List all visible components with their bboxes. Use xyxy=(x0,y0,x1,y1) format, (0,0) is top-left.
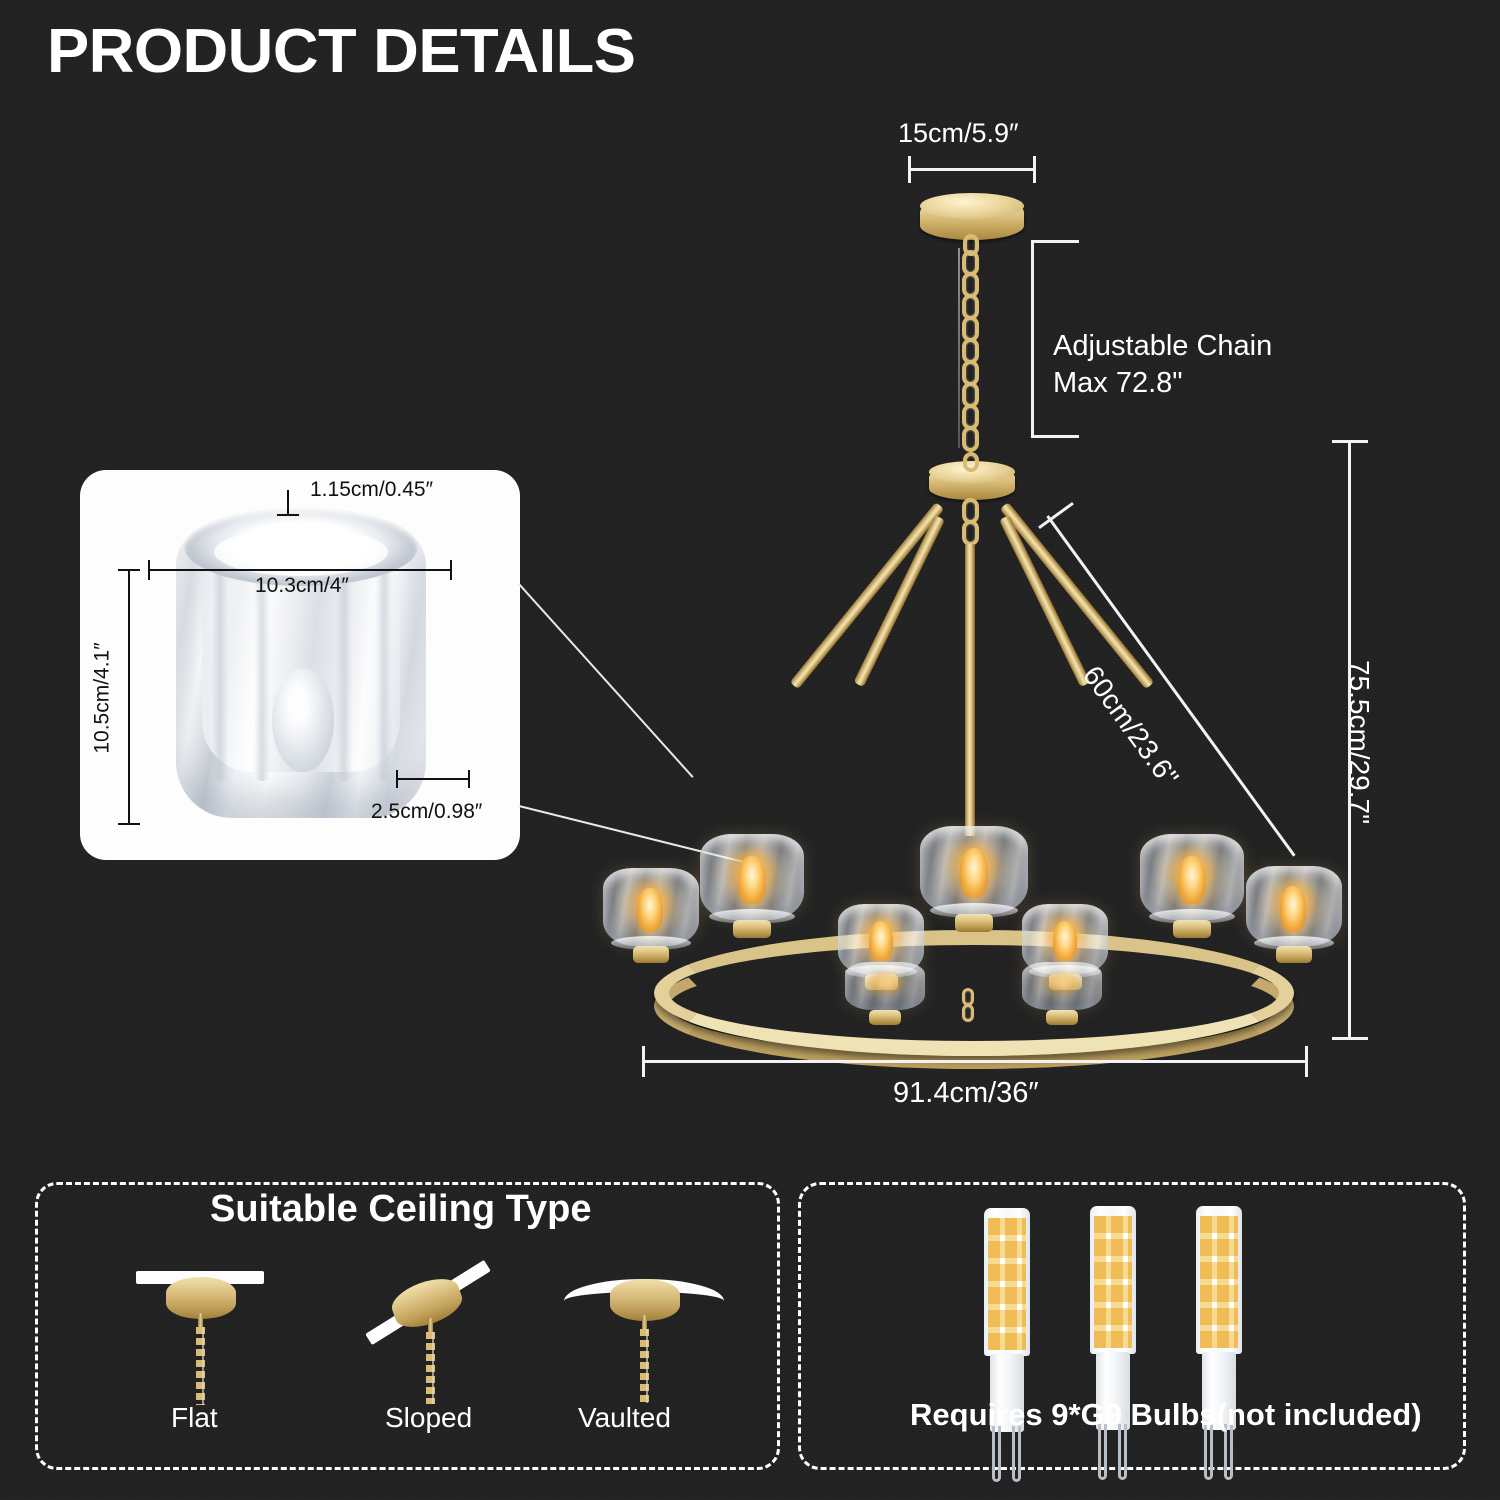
bulb-glass xyxy=(1196,1206,1242,1354)
light-shade xyxy=(920,826,1028,930)
light-shade xyxy=(845,962,925,1022)
mount-wire xyxy=(432,1332,434,1404)
dim-tick-height-bottom xyxy=(1332,1037,1368,1040)
dim-tick-diameter-right xyxy=(1305,1046,1308,1077)
dim-label-chain-line1: Adjustable Chain xyxy=(1053,330,1272,363)
ceiling-type-flat xyxy=(106,1255,306,1405)
dim-tick-diameter-left xyxy=(642,1046,645,1077)
bulb-glass xyxy=(1090,1206,1136,1354)
led-chips xyxy=(1094,1216,1132,1348)
light-shade xyxy=(1140,834,1244,936)
ceiling-type-flat-label: Flat xyxy=(171,1402,218,1434)
ceiling-type-sloped xyxy=(336,1248,536,1408)
led-chips xyxy=(988,1218,1026,1350)
mount-wire xyxy=(202,1327,204,1405)
ceiling-type-sloped-label: Sloped xyxy=(385,1402,472,1434)
light-shade xyxy=(1022,962,1102,1022)
bulb-glass xyxy=(984,1208,1030,1356)
dim-label-total-height: 75.5cm/29.7" xyxy=(1343,660,1375,824)
bulb-requirement-caption: Requires 9*G9 Bulbs(not included) xyxy=(910,1397,1422,1433)
center-chain-link xyxy=(962,520,979,546)
dim-tick-canopy-right xyxy=(1033,156,1036,183)
dim-label-chain-line2: Max 72.8" xyxy=(1053,367,1183,400)
center-drop-rod xyxy=(965,544,975,836)
dim-line-canopy-width xyxy=(908,168,1036,171)
dim-tick-height-top xyxy=(1332,440,1368,443)
chandelier-ring xyxy=(654,930,1294,1056)
dim-line-chain xyxy=(1031,240,1034,438)
mount-wire xyxy=(646,1329,648,1403)
ring-center-chain xyxy=(962,1004,974,1022)
ceiling-type-vaulted-label: Vaulted xyxy=(578,1402,671,1434)
ceiling-type-vaulted xyxy=(546,1255,756,1407)
dim-line-ring-diameter xyxy=(642,1060,1308,1063)
led-chips xyxy=(1200,1216,1238,1348)
ceiling-panel-title: Suitable Ceiling Type xyxy=(210,1188,591,1231)
dim-label-ring-diameter: 91.4cm/36″ xyxy=(893,1077,1039,1110)
dim-tick-chain-bottom xyxy=(1031,435,1079,438)
canopy-top-face xyxy=(920,193,1024,219)
dim-label-canopy-width: 15cm/5.9″ xyxy=(898,118,1019,149)
light-shade xyxy=(1246,866,1342,960)
power-wire xyxy=(958,248,960,448)
light-shade xyxy=(700,834,804,936)
dim-tick-chain-top xyxy=(1031,240,1079,243)
hub-loop xyxy=(963,452,979,472)
dim-tick-canopy-left xyxy=(908,156,911,183)
chain-link xyxy=(962,426,979,452)
bulb-pin xyxy=(1012,1426,1021,1482)
bulb-pin xyxy=(992,1426,1001,1482)
light-shade xyxy=(603,868,699,960)
